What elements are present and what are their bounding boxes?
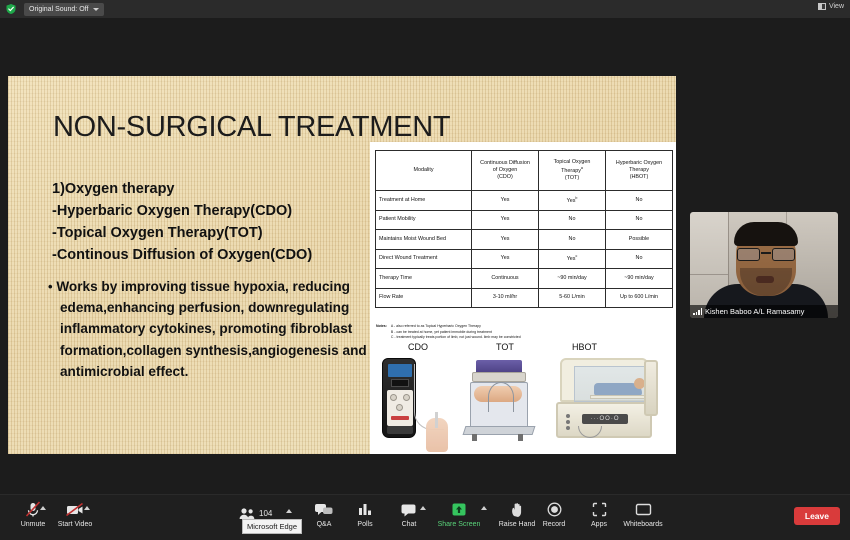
comparison-panel: Modality Continuous Diffusion of Oxygen … (370, 142, 676, 454)
col-modality: Modality (376, 151, 472, 191)
device-photos: ···OO·O (370, 356, 676, 452)
unmute-label: Unmute (21, 521, 46, 528)
whiteboards-label: Whiteboards (623, 521, 662, 528)
device-label-hbot: HBOT (572, 342, 597, 352)
top-bar: Original Sound: Off View (0, 0, 850, 18)
participant-name: Kishen Baboo A/L Ramasamy (705, 307, 804, 316)
original-sound-button[interactable]: Original Sound: Off (24, 3, 104, 16)
cdo-device-photo (382, 358, 416, 438)
note-a: A - also referred to as Topical Hyperbar… (391, 324, 481, 328)
table-header-row: Modality Continuous Diffusion of Oxygen … (376, 151, 673, 191)
table-row: Treatment at Home Yes Yesb No (376, 191, 673, 211)
polls-label: Polls (357, 521, 372, 528)
apps-icon (592, 501, 607, 518)
hbot-device-photo: ···OO·O (552, 356, 660, 448)
shield-check-icon (5, 3, 17, 15)
record-circle-icon (547, 501, 562, 518)
table-row: Maintains Moist Wound Bed Yes No Possibl… (376, 230, 673, 250)
chat-button[interactable]: Chat (382, 501, 436, 528)
participant-name-bar: Kishen Baboo A/L Ramasamy (690, 305, 838, 318)
view-label: View (829, 3, 844, 10)
zoom-meeting-window: Original Sound: Off View NON-SURGICAL TR… (0, 0, 850, 540)
audio-options-chevron-icon[interactable] (40, 506, 46, 510)
col-tot: Topical Oxygen Therapya (TOT) (539, 151, 606, 191)
video-options-chevron-icon[interactable] (84, 506, 90, 510)
device-label-tot: TOT (496, 342, 514, 352)
leave-button[interactable]: Leave (794, 507, 840, 525)
slide-title: NON-SURGICAL TREATMENT (53, 111, 450, 144)
table-notes: Notes: A - also referred to as Topical H… (376, 324, 666, 341)
slide-paragraph: • Works by improving tissue hypoxia, red… (60, 276, 380, 382)
note-b: B - can be treated at home, yet patient … (391, 330, 492, 334)
share-chevron-icon[interactable] (481, 506, 487, 510)
participant-count: 104 (259, 509, 272, 518)
list-item: -Topical Oxygen Therapy(TOT) (52, 222, 382, 244)
video-feed (690, 212, 838, 318)
device-labels: CDO TOT HBOT (370, 342, 676, 356)
apps-label: Apps (591, 521, 607, 528)
meeting-toolbar: Unmute Start Video (0, 494, 850, 540)
browser-tooltip: Microsoft Edge (242, 519, 302, 534)
participant-video-tile[interactable]: Kishen Baboo A/L Ramasamy (690, 212, 838, 318)
layout-view-icon (818, 3, 826, 10)
cdo-hand-illustration (426, 418, 448, 452)
table-row: Patient Mobility Yes No No (376, 210, 673, 230)
slide-bullet-list: 1)Oxygen therapy -Hyperbaric Oxygen Ther… (52, 178, 382, 266)
list-item: -Hyperbaric Oxygen Therapy(CDO) (52, 200, 382, 222)
table-row: Therapy Time Continuous ~90 min/day ~90 … (376, 269, 673, 289)
tot-device-photo (462, 360, 534, 446)
glasses-icon (736, 248, 796, 261)
qa-label: Q&A (317, 521, 332, 528)
signal-strength-icon (693, 308, 702, 315)
bullet-marker: • (48, 279, 53, 294)
notes-body: A - also referred to as Topical Hyperbar… (391, 324, 521, 341)
camera-off-icon (64, 501, 86, 518)
polls-bars-icon (357, 501, 373, 518)
device-label-cdo: CDO (408, 342, 428, 352)
shared-screen-slide: NON-SURGICAL TREATMENT 1)Oxygen therapy … (8, 76, 676, 454)
note-c: C - treatment typically treats portion o… (391, 335, 521, 339)
list-item: -Continous Diffusion of Oxygen(CDO) (52, 244, 382, 266)
table-body: Treatment at Home Yes Yesb No Patient Mo… (376, 191, 673, 308)
chat-chevron-icon[interactable] (420, 506, 426, 510)
chat-bubble-icon (400, 501, 418, 518)
col-hbot: Hyperbaric Oxygen Therapy (HBOT) (606, 151, 673, 191)
whiteboards-button[interactable]: Whiteboards (616, 501, 670, 528)
whiteboard-icon (635, 501, 652, 518)
qa-bubbles-icon (314, 501, 334, 518)
share-screen-label: Share Screen (438, 521, 481, 528)
share-screen-icon (451, 501, 467, 518)
chevron-down-icon[interactable] (93, 8, 99, 11)
start-video-label: Start Video (58, 521, 93, 528)
participants-chevron-icon[interactable] (286, 509, 292, 513)
col-cdo: Continuous Diffusion of Oxygen (CDO) (472, 151, 539, 191)
view-button[interactable]: View (818, 3, 844, 10)
modality-comparison-table: Modality Continuous Diffusion of Oxygen … (375, 150, 673, 308)
table-row: Flow Rate 3-10 ml/hr 5-60 L/min Up to 60… (376, 288, 673, 308)
original-sound-label: Original Sound: Off (29, 6, 88, 13)
start-video-button[interactable]: Start Video (48, 501, 102, 528)
notes-label: Notes: (376, 324, 387, 341)
raise-hand-icon (510, 501, 524, 518)
list-item: 1)Oxygen therapy (52, 178, 382, 200)
table-row: Direct Wound Treatment Yes Yesc No (376, 249, 673, 269)
hbot-control-panel-text: ···OO·O (582, 414, 628, 424)
chat-label: Chat (402, 521, 417, 528)
share-screen-button[interactable]: Share Screen (432, 501, 486, 528)
paragraph-text: Works by improving tissue hypoxia, reduc… (56, 279, 366, 379)
record-label: Record (543, 521, 566, 528)
